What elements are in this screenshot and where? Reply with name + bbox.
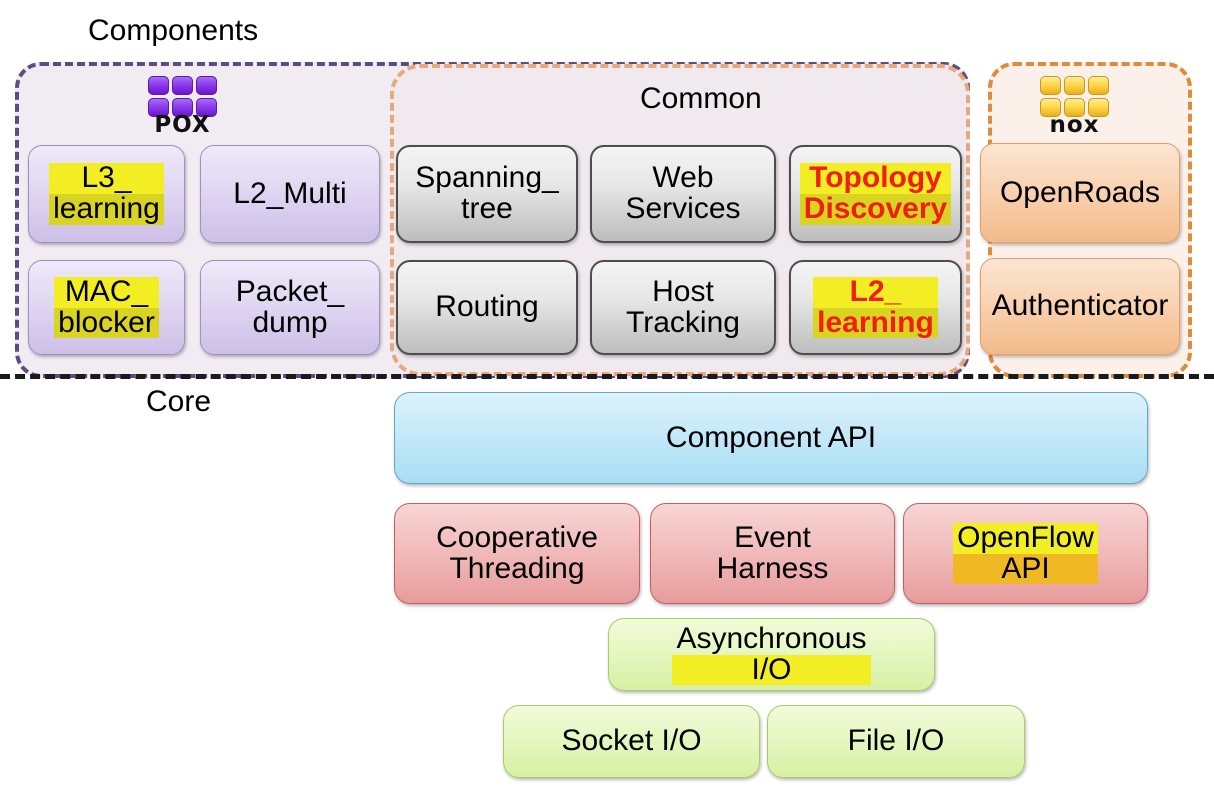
components-label: Components	[88, 16, 258, 46]
component-box-topology-discovery[interactable]: Topology Discovery	[789, 145, 962, 243]
io-label: Socket I/O	[557, 726, 705, 757]
io-label: File I/O	[844, 726, 949, 757]
async-io-text: Asynchronous	[672, 624, 870, 655]
component-label-line1: L2_	[813, 277, 938, 308]
component-label-line1: Spanning_	[411, 163, 562, 194]
core-label-line1: Event	[713, 523, 833, 554]
logo-cell	[1040, 76, 1061, 95]
component-label-line2: learning	[813, 308, 938, 339]
nox-logo-grid	[1040, 76, 1109, 117]
core-box-cooperative-threading[interactable]: Cooperative Threading	[394, 503, 640, 604]
component-label-line1: Web	[621, 163, 744, 194]
component-label-line1: Topology	[800, 163, 951, 194]
component-label-line2: dump	[232, 308, 348, 339]
core-label-line1: Cooperative	[432, 523, 602, 554]
nox-logo: nox	[1040, 76, 1109, 137]
core-box-file-io[interactable]: File I/O	[767, 705, 1025, 778]
common-group-label: Common	[640, 84, 762, 114]
core-box-asynchronous-io[interactable]: Asynchronous I/O	[608, 618, 935, 691]
component-label-line1: Host	[622, 277, 744, 308]
core-label-line2: Threading	[432, 554, 602, 585]
pox-wordmark: POX	[148, 114, 217, 137]
component-label-line2: blocker	[54, 308, 159, 339]
nox-wordmark: nox	[1040, 114, 1109, 137]
component-box-packet-dump[interactable]: Packet_ dump	[200, 260, 380, 355]
async-io-label: Asynchronous I/O	[668, 624, 874, 686]
component-box-l2-multi[interactable]: L2_Multi	[200, 145, 380, 243]
logo-cell	[1088, 76, 1109, 95]
component-box-web-services[interactable]: Web Services	[590, 145, 776, 243]
component-label-line1: Routing	[431, 292, 542, 323]
pox-logo-grid	[148, 76, 217, 117]
component-label-line1: L2_Multi	[229, 179, 350, 210]
logo-cell	[172, 76, 193, 95]
component-box-l3-learning[interactable]: L3_ learning	[28, 145, 185, 243]
logo-cell	[148, 76, 169, 95]
logo-cell	[1064, 76, 1085, 95]
component-label-line2: Tracking	[622, 308, 744, 339]
async-io-highlight: I/O	[672, 655, 870, 686]
core-label: Core	[146, 387, 211, 417]
core-label-line1: OpenFlow	[953, 523, 1098, 554]
core-box-openflow-api[interactable]: OpenFlow API	[903, 503, 1148, 604]
component-box-l2-learning[interactable]: L2_ learning	[789, 260, 962, 355]
component-api-label: Component API	[662, 423, 880, 454]
component-box-host-tracking[interactable]: Host Tracking	[590, 260, 776, 355]
component-label-line1: Authenticator	[988, 291, 1173, 322]
component-label-line2: Services	[621, 194, 744, 225]
core-label-line2: API	[953, 554, 1098, 585]
logo-cell	[196, 76, 217, 95]
component-label-line1: MAC_	[54, 277, 159, 308]
component-api-bar[interactable]: Component API	[394, 392, 1148, 484]
component-label-line2: learning	[49, 194, 164, 225]
component-label-line2: Discovery	[800, 194, 951, 225]
core-box-socket-io[interactable]: Socket I/O	[503, 705, 760, 778]
component-box-routing[interactable]: Routing	[396, 260, 578, 355]
component-box-openroads[interactable]: OpenRoads	[980, 143, 1180, 243]
component-box-authenticator[interactable]: Authenticator	[980, 258, 1180, 355]
pox-logo: POX	[148, 76, 217, 137]
component-label-line2: tree	[411, 194, 562, 225]
component-label-line1: OpenRoads	[996, 178, 1164, 209]
component-label-line1: L3_	[49, 163, 164, 194]
component-box-mac-blocker[interactable]: MAC_ blocker	[28, 260, 185, 355]
core-box-event-harness[interactable]: Event Harness	[650, 503, 895, 604]
core-label-line2: Harness	[713, 554, 833, 585]
component-box-spanning-tree[interactable]: Spanning_ tree	[396, 145, 578, 243]
core-divider	[0, 374, 1214, 379]
component-label-line1: Packet_	[232, 277, 348, 308]
